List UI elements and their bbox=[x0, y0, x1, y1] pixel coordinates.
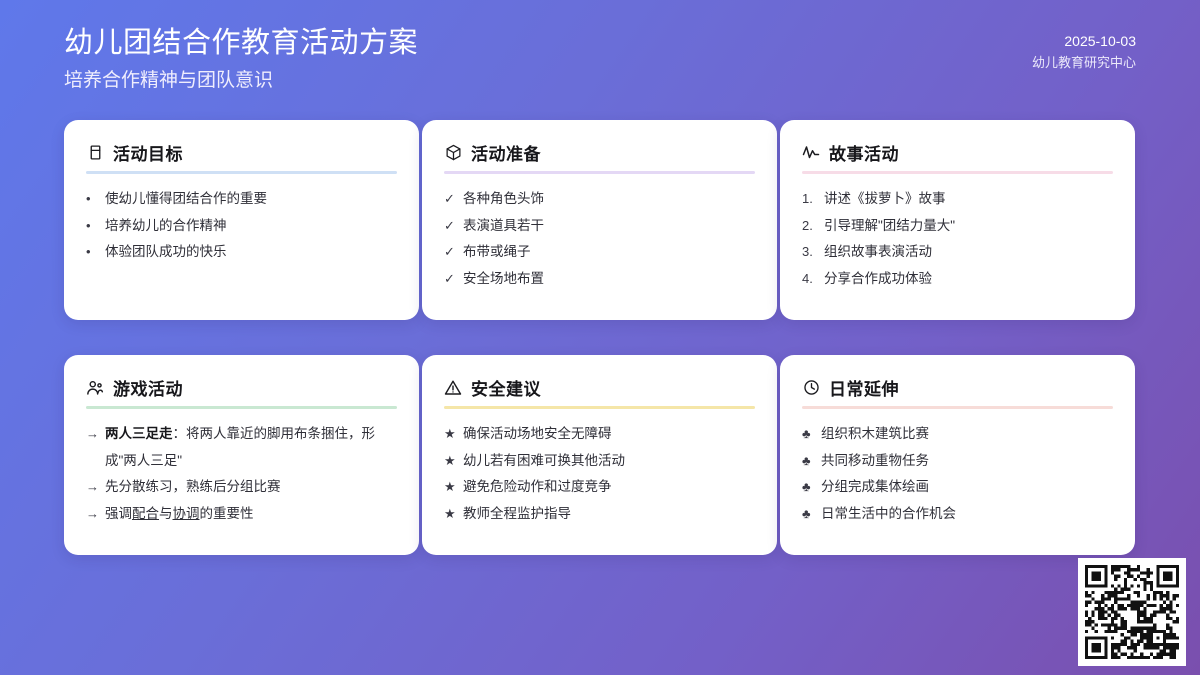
list-item-marker: ♣ bbox=[802, 474, 817, 501]
header-left: 幼儿团结合作教育活动方案 培养合作精神与团队意识 bbox=[64, 24, 418, 96]
list-item: 1.讲述《拔萝卜》故事 bbox=[802, 186, 1113, 213]
list-item: ★避免危险动作和过度竞争 bbox=[444, 474, 755, 501]
list-item-text: 使幼儿懂得团结合作的重要 bbox=[105, 186, 397, 213]
card-accent-rule bbox=[802, 171, 1113, 174]
list-item-text: 教师全程监护指导 bbox=[463, 501, 755, 528]
list-item: •使幼儿懂得团结合作的重要 bbox=[86, 186, 397, 213]
card-title: 活动准备 bbox=[471, 140, 541, 165]
list-item: ★确保活动场地安全无障碍 bbox=[444, 421, 755, 448]
list-item-text: 幼儿若有困难可换其他活动 bbox=[463, 448, 755, 475]
card-2: 活动准备✓各种角色头饰✓表演道具若干✓布带或绳子✓安全场地布置 bbox=[422, 120, 777, 320]
card-6: 日常延伸♣组织积木建筑比赛♣共同移动重物任务♣分组完成集体绘画♣日常生活中的合作… bbox=[780, 355, 1135, 555]
list-item-text: 组织积木建筑比赛 bbox=[821, 421, 1113, 448]
card-title: 日常延伸 bbox=[829, 375, 899, 400]
list-item-text: 培养幼儿的合作精神 bbox=[105, 213, 397, 240]
list-item-marker: → bbox=[86, 501, 101, 528]
card-title: 活动目标 bbox=[113, 140, 183, 165]
qr-code bbox=[1085, 565, 1179, 659]
card-list: ★确保活动场地安全无障碍★幼儿若有困难可换其他活动★避免危险动作和过度竞争★教师… bbox=[444, 421, 755, 527]
list-item: →先分散练习，熟练后分组比赛 bbox=[86, 474, 397, 501]
card-accent-rule bbox=[444, 406, 755, 409]
list-item-text: 分享合作成功体验 bbox=[824, 266, 1113, 293]
package-icon bbox=[444, 144, 462, 162]
list-item: 4.分享合作成功体验 bbox=[802, 266, 1113, 293]
list-item-marker: → bbox=[86, 421, 101, 448]
list-item-text: 讲述《拔萝卜》故事 bbox=[824, 186, 1113, 213]
list-item-text: 布带或绳子 bbox=[463, 239, 755, 266]
page-header: 幼儿团结合作教育活动方案 培养合作精神与团队意识 2025-10-03 幼儿教育… bbox=[0, 0, 1200, 112]
card-grid: 活动目标•使幼儿懂得团结合作的重要•培养幼儿的合作精神•体验团队成功的快乐活动准… bbox=[64, 120, 1136, 555]
list-item: ♣组织积木建筑比赛 bbox=[802, 421, 1113, 448]
card-header: 安全建议 bbox=[444, 375, 755, 406]
list-item-text: 确保活动场地安全无障碍 bbox=[463, 421, 755, 448]
list-item-marker: ★ bbox=[444, 421, 459, 448]
list-item: 3.组织故事表演活动 bbox=[802, 239, 1113, 266]
list-item: •体验团队成功的快乐 bbox=[86, 239, 397, 266]
list-item: ♣日常生活中的合作机会 bbox=[802, 501, 1113, 528]
users-icon bbox=[86, 379, 104, 397]
list-item: →两人三足走：将两人靠近的脚用布条捆住，形成"两人三足" bbox=[86, 421, 397, 474]
card-5: 安全建议★确保活动场地安全无障碍★幼儿若有困难可换其他活动★避免危险动作和过度竞… bbox=[422, 355, 777, 555]
list-item-text: 各种角色头饰 bbox=[463, 186, 755, 213]
list-item-text: 安全场地布置 bbox=[463, 266, 755, 293]
card-3: 故事活动1.讲述《拔萝卜》故事2.引导理解"团结力量大"3.组织故事表演活动4.… bbox=[780, 120, 1135, 320]
card-header: 故事活动 bbox=[802, 140, 1113, 171]
card-title: 故事活动 bbox=[829, 140, 899, 165]
list-item-marker: → bbox=[86, 474, 101, 501]
list-item: ✓表演道具若干 bbox=[444, 213, 755, 240]
list-item-marker: 4. bbox=[802, 266, 820, 293]
list-item-marker: ✓ bbox=[444, 213, 459, 240]
card-accent-rule bbox=[802, 406, 1113, 409]
list-item-text: 两人三足走：将两人靠近的脚用布条捆住，形成"两人三足" bbox=[105, 421, 397, 474]
page-title: 幼儿团结合作教育活动方案 bbox=[64, 24, 418, 62]
list-item-marker: ♣ bbox=[802, 421, 817, 448]
list-item-marker: • bbox=[86, 213, 101, 240]
list-item: •培养幼儿的合作精神 bbox=[86, 213, 397, 240]
list-item-marker: • bbox=[86, 239, 101, 266]
list-item: ♣共同移动重物任务 bbox=[802, 448, 1113, 475]
list-item: ✓布带或绳子 bbox=[444, 239, 755, 266]
list-item-marker: ★ bbox=[444, 501, 459, 528]
card-accent-rule bbox=[86, 171, 397, 174]
card-4: 游戏活动→两人三足走：将两人靠近的脚用布条捆住，形成"两人三足"→先分散练习，熟… bbox=[64, 355, 419, 555]
card-header: 游戏活动 bbox=[86, 375, 397, 406]
list-item-marker: 2. bbox=[802, 213, 820, 240]
list-item-text: 引导理解"团结力量大" bbox=[824, 213, 1113, 240]
list-item-marker: ♣ bbox=[802, 448, 817, 475]
list-item-text: 强调配合与协调的重要性 bbox=[105, 501, 397, 528]
card-accent-rule bbox=[86, 406, 397, 409]
header-date: 2025-10-03 bbox=[1064, 30, 1136, 52]
list-item: 2.引导理解"团结力量大" bbox=[802, 213, 1113, 240]
card-list: •使幼儿懂得团结合作的重要•培养幼儿的合作精神•体验团队成功的快乐 bbox=[86, 186, 397, 266]
card-header: 日常延伸 bbox=[802, 375, 1113, 406]
card-title: 游戏活动 bbox=[113, 375, 183, 400]
list-item-text: 分组完成集体绘画 bbox=[821, 474, 1113, 501]
card-list: 1.讲述《拔萝卜》故事2.引导理解"团结力量大"3.组织故事表演活动4.分享合作… bbox=[802, 186, 1113, 292]
list-item: ✓各种角色头饰 bbox=[444, 186, 755, 213]
list-item-text: 日常生活中的合作机会 bbox=[821, 501, 1113, 528]
list-item-marker: ✓ bbox=[444, 266, 459, 293]
card-list: ♣组织积木建筑比赛♣共同移动重物任务♣分组完成集体绘画♣日常生活中的合作机会 bbox=[802, 421, 1113, 527]
header-organization: 幼儿教育研究中心 bbox=[1032, 52, 1136, 74]
list-item: ♣分组完成集体绘画 bbox=[802, 474, 1113, 501]
card-list: ✓各种角色头饰✓表演道具若干✓布带或绳子✓安全场地布置 bbox=[444, 186, 755, 292]
list-item-marker: ✓ bbox=[444, 239, 459, 266]
list-item-text: 避免危险动作和过度竞争 bbox=[463, 474, 755, 501]
list-item-marker: • bbox=[86, 186, 101, 213]
card-header: 活动准备 bbox=[444, 140, 755, 171]
list-item: ✓安全场地布置 bbox=[444, 266, 755, 293]
list-item-marker: 3. bbox=[802, 239, 820, 266]
card-list: →两人三足走：将两人靠近的脚用布条捆住，形成"两人三足"→先分散练习，熟练后分组… bbox=[86, 421, 397, 527]
card-accent-rule bbox=[444, 171, 755, 174]
list-item-text: 组织故事表演活动 bbox=[824, 239, 1113, 266]
list-item-marker: ✓ bbox=[444, 186, 459, 213]
list-item: ★教师全程监护指导 bbox=[444, 501, 755, 528]
list-item-text: 共同移动重物任务 bbox=[821, 448, 1113, 475]
clock-icon bbox=[802, 379, 820, 397]
list-item: ★幼儿若有困难可换其他活动 bbox=[444, 448, 755, 475]
warning-triangle-icon bbox=[444, 379, 462, 397]
card-header: 活动目标 bbox=[86, 140, 397, 171]
list-item-marker: ★ bbox=[444, 474, 459, 501]
book-icon bbox=[86, 144, 104, 162]
header-right: 2025-10-03 幼儿教育研究中心 bbox=[1032, 24, 1136, 74]
page-subtitle: 培养合作精神与团队意识 bbox=[64, 66, 418, 96]
card-1: 活动目标•使幼儿懂得团结合作的重要•培养幼儿的合作精神•体验团队成功的快乐 bbox=[64, 120, 419, 320]
card-title: 安全建议 bbox=[471, 375, 541, 400]
list-item-text: 先分散练习，熟练后分组比赛 bbox=[105, 474, 397, 501]
list-item-text: 体验团队成功的快乐 bbox=[105, 239, 397, 266]
list-item: →强调配合与协调的重要性 bbox=[86, 501, 397, 528]
qr-code-container bbox=[1078, 558, 1186, 666]
list-item-marker: ★ bbox=[444, 448, 459, 475]
list-item-marker: 1. bbox=[802, 186, 820, 213]
list-item-text: 表演道具若干 bbox=[463, 213, 755, 240]
activity-pulse-icon bbox=[802, 144, 820, 162]
list-item-marker: ♣ bbox=[802, 501, 817, 528]
